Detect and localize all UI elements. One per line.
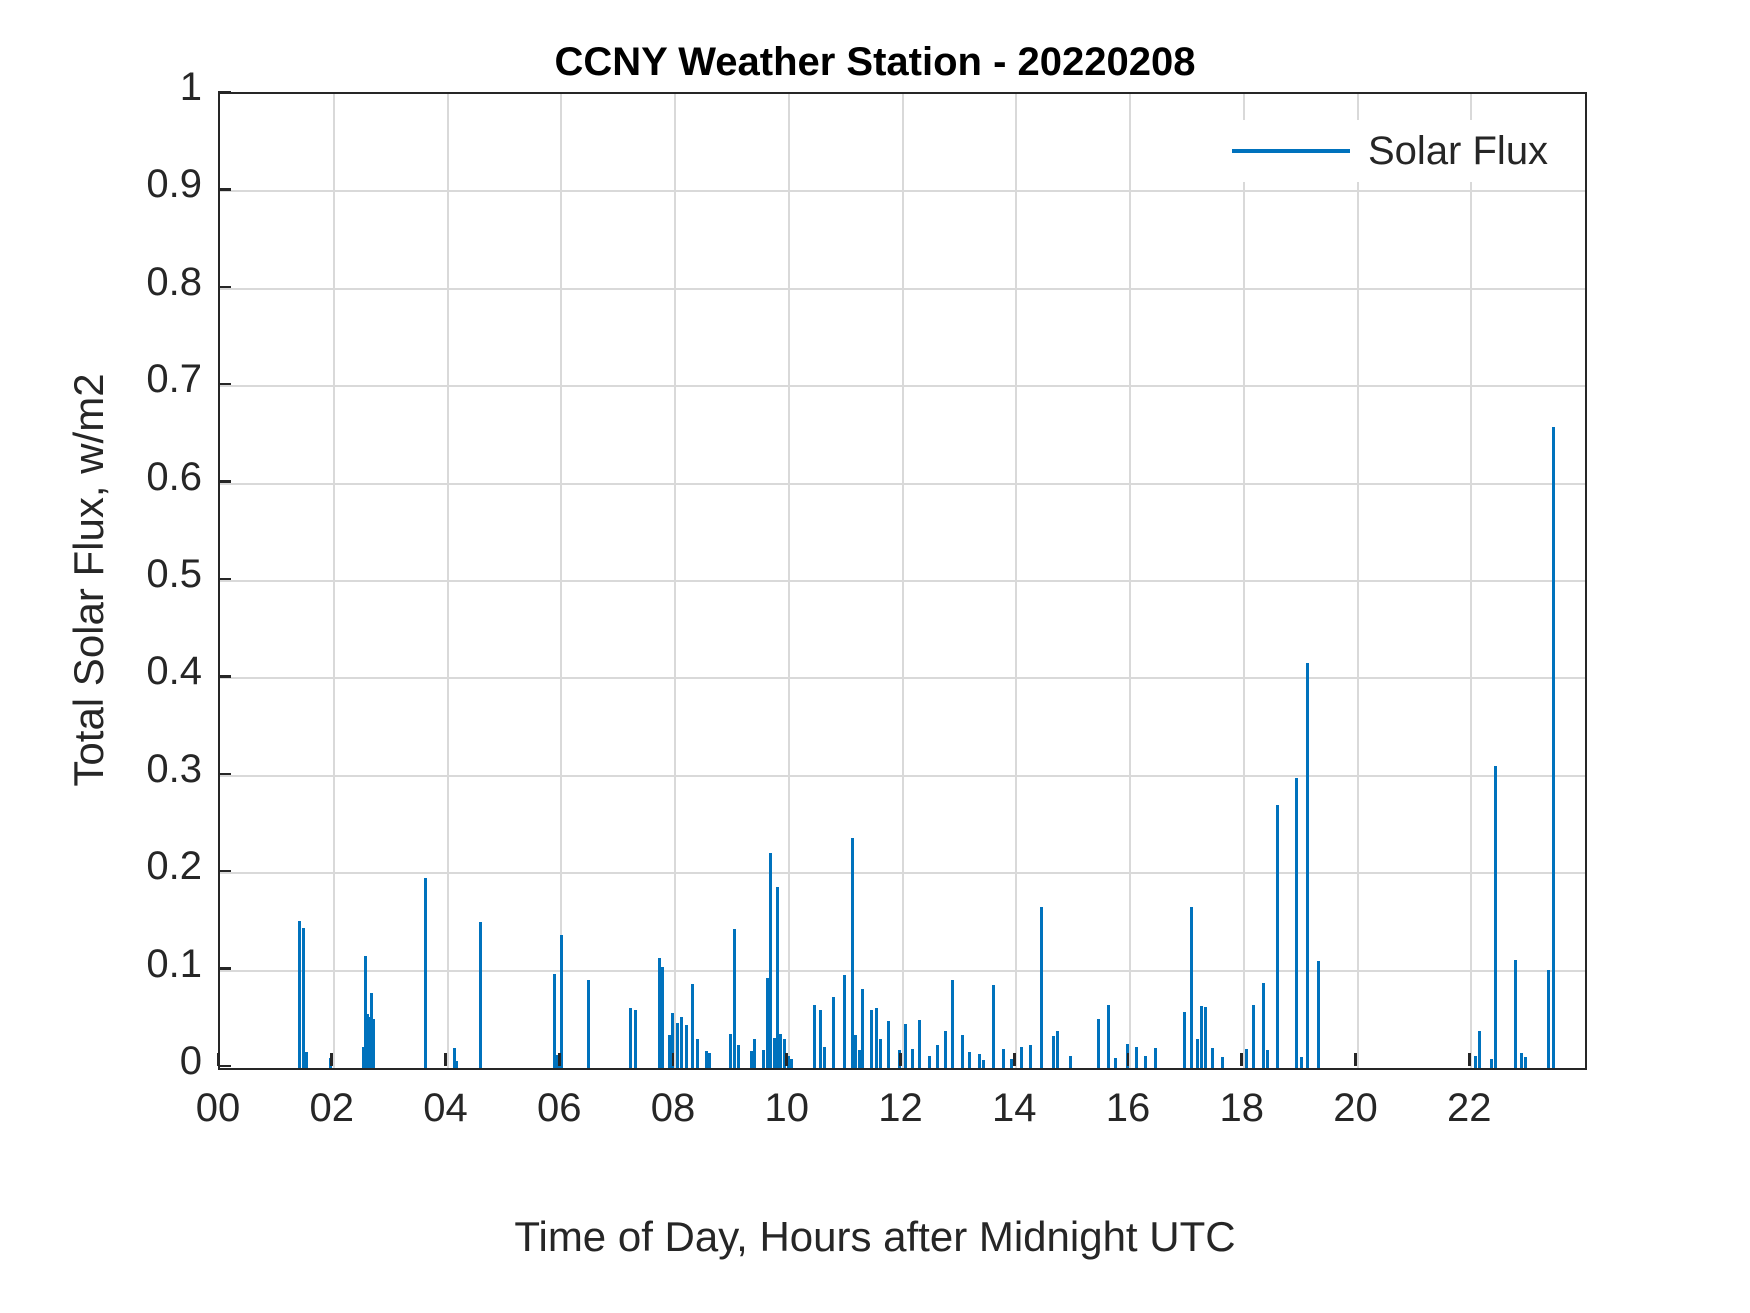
data-spike [1002, 1049, 1005, 1068]
data-spike [1478, 1031, 1481, 1068]
y-axis-tick-label: 0.2 [146, 846, 202, 886]
data-spike [753, 1039, 756, 1068]
y-axis-tick-label: 0 [180, 1041, 202, 1081]
data-spike [851, 838, 854, 1068]
data-spike [1029, 1045, 1032, 1068]
data-spike [823, 1047, 826, 1068]
data-spike [861, 989, 864, 1068]
data-spike [1514, 960, 1517, 1068]
chart-title: CCNY Weather Station - 20220208 [0, 40, 1750, 85]
data-spike [1306, 663, 1309, 1068]
data-spike [708, 1053, 711, 1068]
data-spike [1056, 1031, 1059, 1068]
data-spike [553, 974, 556, 1068]
data-spike [1144, 1056, 1147, 1068]
data-spike [1245, 1049, 1248, 1068]
data-spike [1317, 961, 1320, 1068]
y-axis-tick-label: 0.7 [146, 359, 202, 399]
x-axis-tick [1127, 1053, 1130, 1066]
data-series-solar-flux [220, 94, 1585, 1068]
y-axis-tick [218, 480, 231, 483]
x-axis-tick [672, 1053, 675, 1066]
chart-figure: CCNY Weather Station - 20220208 00.10.20… [0, 0, 1750, 1313]
x-axis-tick-label: 10 [727, 1088, 847, 1128]
data-spike [936, 1045, 939, 1068]
data-spike [904, 1024, 907, 1068]
data-spike [1266, 1050, 1269, 1068]
data-spike [1474, 1056, 1477, 1068]
x-axis-tick-label: 00 [158, 1088, 278, 1128]
data-spike [691, 984, 694, 1068]
data-spike [928, 1056, 931, 1068]
plot-area [218, 92, 1587, 1070]
data-spike [1052, 1036, 1055, 1068]
data-spike [819, 1010, 822, 1068]
data-spike [813, 1005, 816, 1068]
x-axis-tick [217, 1053, 220, 1066]
x-axis-tick [444, 1053, 447, 1066]
y-axis-tick [218, 675, 231, 678]
data-spike [870, 1010, 873, 1068]
data-spike [729, 1034, 732, 1068]
data-spike [696, 1039, 699, 1068]
data-spike [1524, 1057, 1527, 1068]
data-spike [1490, 1059, 1493, 1068]
y-axis-tick [218, 773, 231, 776]
data-spike [978, 1054, 981, 1068]
y-axis-tick-label: 0.3 [146, 749, 202, 789]
legend: Solar Flux [1225, 120, 1565, 182]
data-spike [790, 1059, 793, 1068]
y-axis-tick [218, 1065, 231, 1068]
data-spike [424, 878, 427, 1068]
data-spike [733, 929, 736, 1068]
x-axis-tick-label: 20 [1296, 1088, 1416, 1128]
legend-label-solar-flux: Solar Flux [1368, 131, 1548, 171]
x-axis-tick-label: 12 [841, 1088, 961, 1128]
data-spike [769, 853, 772, 1068]
x-axis-tick [1240, 1053, 1243, 1066]
data-spike [854, 1035, 857, 1068]
y-axis-tick [218, 91, 231, 94]
data-spike [875, 1008, 878, 1068]
y-axis-tick [218, 188, 231, 191]
data-spike [1211, 1048, 1214, 1068]
data-spike [1135, 1047, 1138, 1068]
x-axis-tick-label: 02 [272, 1088, 392, 1128]
data-spike [832, 997, 835, 1068]
data-spike [661, 967, 664, 1068]
y-axis-tick-label: 0.9 [146, 164, 202, 204]
data-spike [1494, 766, 1497, 1068]
data-spike [587, 980, 590, 1068]
data-spike [879, 1039, 882, 1068]
data-spike [1276, 805, 1279, 1068]
data-spike [992, 985, 995, 1068]
x-axis-tick [558, 1053, 561, 1066]
x-axis-label: Time of Day, Hours after Midnight UTC [0, 1213, 1750, 1261]
data-spike [887, 1021, 890, 1068]
data-spike [961, 1035, 964, 1068]
data-spike [372, 1019, 375, 1068]
y-axis-tick-label: 0.8 [146, 262, 202, 302]
data-spike [944, 1031, 947, 1068]
y-axis-tick-label: 0.4 [146, 651, 202, 691]
data-spike [560, 935, 563, 1068]
data-spike [968, 1052, 971, 1068]
data-spike [1190, 907, 1193, 1068]
x-axis-tick [1354, 1053, 1357, 1066]
data-spike [1295, 778, 1298, 1068]
data-spike [676, 1023, 679, 1068]
x-axis-tick-label: 18 [1182, 1088, 1302, 1128]
y-axis-tick [218, 286, 231, 289]
data-spike [634, 1010, 637, 1068]
x-axis-tick-label: 08 [613, 1088, 733, 1128]
data-spike [1252, 1005, 1255, 1068]
data-spike [629, 1008, 632, 1068]
data-spike [1221, 1057, 1224, 1068]
data-spike [298, 921, 301, 1068]
x-axis-tick-label: 06 [499, 1088, 619, 1128]
x-axis-tick-label: 14 [954, 1088, 1074, 1128]
y-axis-tick-label: 0.6 [146, 457, 202, 497]
data-spike [1183, 1012, 1186, 1068]
data-spike [455, 1061, 458, 1068]
data-spike [1262, 983, 1265, 1068]
x-axis-tick-label: 16 [1068, 1088, 1188, 1128]
data-spike [1069, 1056, 1072, 1068]
x-axis-tick-label: 22 [1409, 1088, 1529, 1128]
data-spike [1204, 1007, 1207, 1068]
data-spike [911, 1049, 914, 1068]
data-spike [779, 1034, 782, 1068]
y-axis-label: Total Solar Flux, w/m2 [65, 91, 113, 1069]
data-spike [1097, 1019, 1100, 1068]
x-axis-tick [1468, 1053, 1471, 1066]
data-spike [1107, 1005, 1110, 1068]
data-spike [685, 1025, 688, 1068]
data-spike [1547, 970, 1550, 1068]
y-axis-tick-label: 0.5 [146, 554, 202, 594]
data-spike [302, 928, 305, 1068]
data-spike [479, 922, 482, 1068]
data-spike [737, 1045, 740, 1068]
legend-line-icon [1232, 149, 1350, 153]
x-axis-tick [899, 1053, 902, 1066]
x-axis-tick [1013, 1053, 1016, 1066]
data-spike [918, 1020, 921, 1068]
y-axis-tick-label: 0.1 [146, 944, 202, 984]
y-axis-tick [218, 967, 231, 970]
data-spike [680, 1017, 683, 1068]
y-axis-tick [218, 383, 231, 386]
data-spike [1200, 1006, 1203, 1068]
x-axis-tick [330, 1053, 333, 1066]
data-spike [762, 1050, 765, 1068]
x-axis-tick [785, 1053, 788, 1066]
data-spike [305, 1052, 308, 1068]
data-spike [951, 980, 954, 1068]
data-spike [1154, 1048, 1157, 1068]
data-spike [982, 1060, 985, 1068]
data-spike [1300, 1057, 1303, 1068]
data-spike [1040, 907, 1043, 1068]
data-spike [1520, 1053, 1523, 1068]
data-spike [843, 975, 846, 1068]
y-axis-tick [218, 870, 231, 873]
data-spike [1114, 1058, 1117, 1068]
y-axis-tick-label: 1 [180, 67, 202, 107]
x-axis-tick-label: 04 [386, 1088, 506, 1128]
y-axis-tick [218, 578, 231, 581]
data-spike [1020, 1047, 1023, 1068]
data-spike [1196, 1039, 1199, 1068]
data-spike [1552, 427, 1555, 1068]
